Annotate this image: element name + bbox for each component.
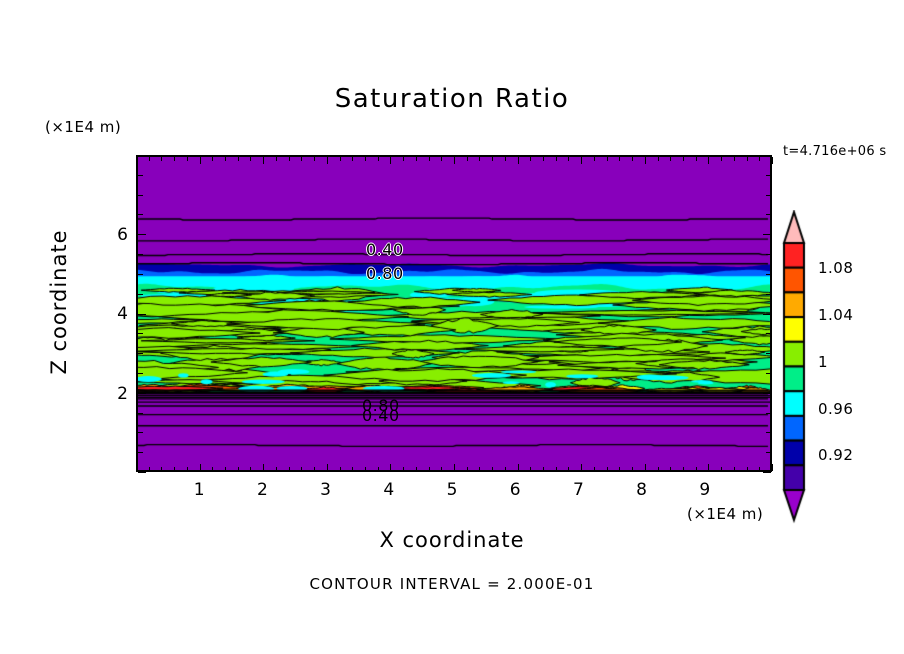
y-tick-mark — [138, 234, 146, 235]
colorbar-tick-1: 1 — [818, 353, 828, 371]
y-tick-4: 4 — [104, 304, 128, 324]
x-tick-mark — [276, 467, 277, 471]
x-tick-mark — [670, 157, 671, 161]
x-tick-mark — [505, 467, 506, 471]
x-tick-mark — [721, 467, 722, 471]
colorbar-tick-1-08: 1.08 — [818, 259, 853, 277]
colorbar-gradient — [779, 210, 823, 540]
x-tick-mark — [530, 157, 531, 161]
x-tick-mark — [187, 467, 188, 471]
x-tick-mark — [581, 157, 582, 164]
x-tick-mark — [263, 157, 264, 164]
x-tick-mark — [340, 157, 341, 161]
time-label: t=4.716e+06 s — [783, 144, 886, 159]
x-tick-mark — [238, 157, 239, 161]
x-tick-8: 8 — [627, 480, 657, 500]
x-tick-mark — [390, 157, 391, 164]
x-tick-mark — [352, 157, 353, 161]
y-tick-mark — [766, 175, 771, 176]
y-tick-mark — [763, 393, 771, 394]
x-tick-mark — [429, 157, 430, 161]
y-tick-mark — [766, 432, 771, 433]
x-tick-mark — [289, 157, 290, 161]
x-tick-mark — [670, 467, 671, 471]
y-tick-mark — [763, 472, 771, 473]
y-tick-6: 6 — [104, 225, 128, 245]
y-tick-mark — [766, 274, 771, 275]
x-tick-mark — [301, 467, 302, 471]
y-tick-mark — [766, 254, 771, 255]
x-tick-mark — [696, 157, 697, 161]
y-tick-mark — [138, 373, 143, 374]
x-tick-mark — [632, 467, 633, 471]
x-tick-mark — [645, 157, 646, 164]
y-tick-mark — [138, 274, 143, 275]
x-tick-mark — [378, 467, 379, 471]
y-tick-mark — [138, 393, 146, 394]
x-tick-mark — [250, 157, 251, 161]
x-tick-mark — [403, 467, 404, 471]
y-tick-mark — [138, 432, 143, 433]
x-tick-mark — [518, 157, 519, 164]
y-axis-units: (×1E4 m) — [45, 118, 121, 136]
x-tick-mark — [365, 157, 366, 161]
x-tick-mark — [327, 157, 328, 164]
x-tick-mark — [479, 467, 480, 471]
x-tick-mark — [200, 464, 201, 471]
colorbar-tick-0-92: 0.92 — [818, 446, 853, 464]
x-tick-mark — [289, 467, 290, 471]
x-tick-mark — [683, 467, 684, 471]
x-tick-mark — [658, 467, 659, 471]
x-tick-mark — [174, 157, 175, 161]
x-tick-mark — [161, 467, 162, 471]
x-tick-mark — [467, 467, 468, 471]
y-tick-mark — [763, 314, 771, 315]
x-tick-mark — [365, 467, 366, 471]
x-tick-mark — [734, 157, 735, 161]
x-tick-mark — [314, 467, 315, 471]
x-tick-mark — [543, 467, 544, 471]
x-tick-mark — [301, 157, 302, 161]
y-tick-mark — [766, 452, 771, 453]
x-tick-9: 9 — [690, 480, 720, 500]
x-tick-mark — [747, 157, 748, 161]
y-tick-mark — [138, 314, 146, 315]
page-title: Saturation Ratio — [0, 84, 904, 114]
contour-field — [138, 157, 770, 470]
y-tick-mark — [763, 234, 771, 235]
x-tick-mark — [187, 157, 188, 161]
y-tick-mark — [138, 175, 143, 176]
x-tick-mark — [772, 157, 773, 164]
x-tick-mark — [607, 157, 608, 161]
x-tick-mark — [161, 157, 162, 161]
x-tick-mark — [518, 464, 519, 471]
x-tick-mark — [747, 467, 748, 471]
x-tick-mark — [683, 157, 684, 161]
x-tick-mark — [734, 467, 735, 471]
x-tick-mark — [479, 157, 480, 161]
x-tick-mark — [454, 464, 455, 471]
x-tick-mark — [416, 157, 417, 161]
x-tick-mark — [556, 467, 557, 471]
x-tick-mark — [568, 467, 569, 471]
x-tick-mark — [772, 464, 773, 471]
x-tick-mark — [238, 467, 239, 471]
x-tick-mark — [390, 464, 391, 471]
y-tick-mark — [138, 452, 143, 453]
y-tick-mark — [766, 413, 771, 414]
x-tick-mark — [314, 157, 315, 161]
x-tick-mark — [174, 467, 175, 471]
x-tick-mark — [276, 157, 277, 161]
x-tick-mark — [505, 157, 506, 161]
x-tick-mark — [594, 467, 595, 471]
y-tick-mark — [138, 472, 146, 473]
contour-label: 0.40 — [362, 406, 400, 425]
x-tick-3: 3 — [311, 480, 341, 500]
y-tick-mark — [138, 254, 143, 255]
x-tick-mark — [429, 467, 430, 471]
x-tick-mark — [658, 157, 659, 161]
y-tick-mark — [138, 333, 143, 334]
y-tick-mark — [766, 353, 771, 354]
x-tick-mark — [556, 157, 557, 161]
x-tick-1: 1 — [184, 480, 214, 500]
x-tick-mark — [530, 467, 531, 471]
contour-label: 0.40 — [366, 240, 404, 259]
x-tick-mark — [327, 464, 328, 471]
x-tick-mark — [708, 464, 709, 471]
colorbar-tick-1-04: 1.04 — [818, 306, 853, 324]
colorbar-tick-0-96: 0.96 — [818, 400, 853, 418]
y-tick-mark — [766, 333, 771, 334]
x-tick-mark — [441, 467, 442, 471]
x-tick-mark — [594, 157, 595, 161]
x-axis-units: (×1E4 m) — [687, 505, 763, 523]
y-tick-mark — [138, 214, 143, 215]
x-tick-2: 2 — [247, 480, 277, 500]
x-tick-mark — [225, 157, 226, 161]
x-tick-7: 7 — [563, 480, 593, 500]
x-tick-mark — [403, 157, 404, 161]
x-tick-mark — [454, 157, 455, 164]
y-tick-mark — [138, 413, 143, 414]
x-tick-mark — [607, 467, 608, 471]
x-tick-mark — [149, 157, 150, 161]
plot-frame — [136, 155, 772, 472]
x-axis-label: X coordinate — [0, 528, 904, 552]
x-tick-mark — [200, 157, 201, 164]
x-tick-mark — [619, 467, 620, 471]
x-tick-mark — [568, 157, 569, 161]
x-tick-mark — [581, 464, 582, 471]
x-tick-mark — [759, 467, 760, 471]
x-tick-5: 5 — [437, 480, 467, 500]
x-tick-mark — [645, 464, 646, 471]
x-tick-mark — [632, 157, 633, 161]
x-tick-mark — [225, 467, 226, 471]
x-tick-mark — [708, 157, 709, 164]
y-tick-mark — [138, 294, 143, 295]
x-tick-mark — [212, 157, 213, 161]
y-tick-mark — [766, 214, 771, 215]
x-tick-4: 4 — [374, 480, 404, 500]
x-tick-6: 6 — [500, 480, 530, 500]
x-tick-mark — [263, 464, 264, 471]
y-tick-mark — [138, 353, 143, 354]
x-tick-mark — [467, 157, 468, 161]
y-tick-mark — [766, 294, 771, 295]
x-tick-mark — [721, 157, 722, 161]
x-tick-mark — [619, 157, 620, 161]
x-tick-mark — [759, 157, 760, 161]
contour-interval-note: CONTOUR INTERVAL = 2.000E-01 — [0, 575, 904, 593]
x-tick-mark — [352, 467, 353, 471]
x-tick-mark — [492, 157, 493, 161]
x-tick-mark — [441, 157, 442, 161]
y-tick-mark — [766, 195, 771, 196]
x-tick-mark — [416, 467, 417, 471]
x-tick-mark — [378, 157, 379, 161]
y-tick-mark — [766, 373, 771, 374]
x-tick-mark — [492, 467, 493, 471]
y-tick-2: 2 — [104, 384, 128, 404]
colorbar — [779, 210, 813, 522]
y-tick-mark — [138, 195, 143, 196]
x-tick-mark — [212, 467, 213, 471]
x-tick-mark — [340, 467, 341, 471]
x-tick-mark — [149, 467, 150, 471]
y-axis-label: Z coordinate — [47, 207, 71, 397]
x-tick-mark — [543, 157, 544, 161]
contour-label: 0.80 — [366, 264, 404, 283]
x-tick-mark — [696, 467, 697, 471]
x-tick-mark — [250, 467, 251, 471]
